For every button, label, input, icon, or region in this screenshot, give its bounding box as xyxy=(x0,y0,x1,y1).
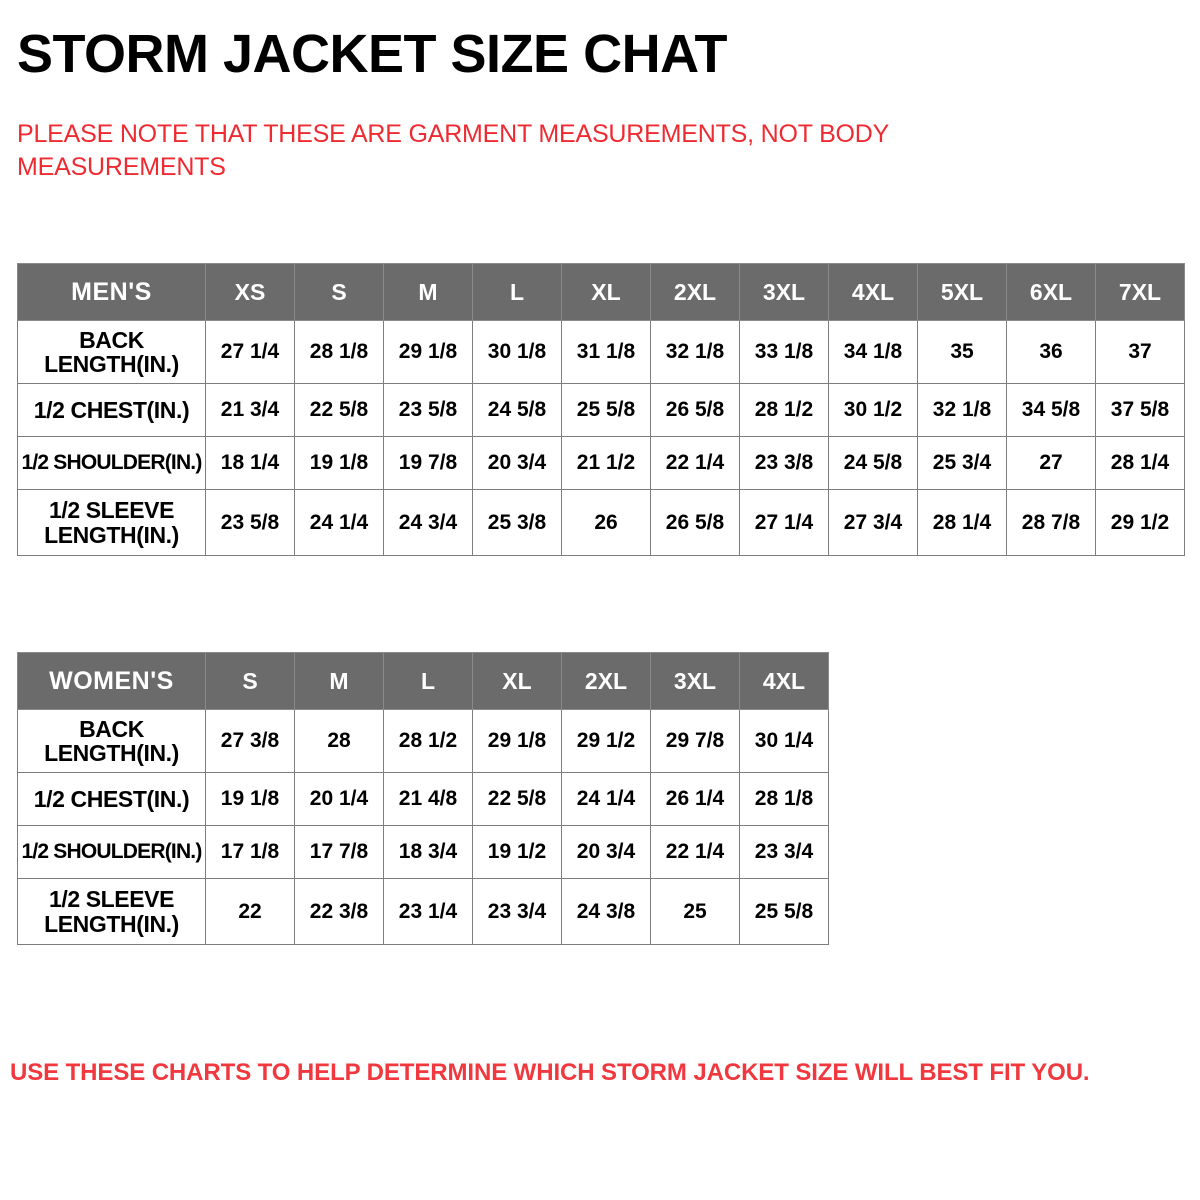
mens-shoulder-7xl: 28 1/4 xyxy=(1096,437,1185,490)
mens-chest-5xl: 32 1/8 xyxy=(918,384,1007,437)
table-row: 1/2 SHOULDER(IN.) 17 1/8 17 7/8 18 3/4 1… xyxy=(18,826,829,879)
mens-sleeve-xs: 23 5/8 xyxy=(206,490,295,556)
womens-corner-header: WOMEN'S xyxy=(18,653,206,710)
mens-corner-header: MEN'S xyxy=(18,264,206,321)
mens-sleeve-2xl: 26 5/8 xyxy=(651,490,740,556)
mens-chest-m: 23 5/8 xyxy=(384,384,473,437)
mens-col-header-xs: XS xyxy=(206,264,295,321)
mens-chest-s: 22 5/8 xyxy=(295,384,384,437)
womens-chest-s: 19 1/8 xyxy=(206,773,295,826)
womens-sleeve-l: 23 1/4 xyxy=(384,879,473,945)
mens-col-header-xl: XL xyxy=(562,264,651,321)
womens-back-length-l: 28 1/2 xyxy=(384,710,473,773)
mens-col-header-s: S xyxy=(295,264,384,321)
womens-chest-m: 20 1/4 xyxy=(295,773,384,826)
womens-shoulder-4xl: 23 3/4 xyxy=(740,826,829,879)
womens-shoulder-l: 18 3/4 xyxy=(384,826,473,879)
mens-shoulder-3xl: 23 3/8 xyxy=(740,437,829,490)
womens-sleeve-s: 22 xyxy=(206,879,295,945)
mens-col-header-4xl: 4XL xyxy=(829,264,918,321)
mens-sleeve-m: 24 3/4 xyxy=(384,490,473,556)
mens-back-length-s: 28 1/8 xyxy=(295,321,384,384)
womens-chest-l: 21 4/8 xyxy=(384,773,473,826)
womens-shoulder-2xl: 20 3/4 xyxy=(562,826,651,879)
mens-table-body: BACK LENGTH(IN.) 27 1/4 28 1/8 29 1/8 30… xyxy=(18,321,1185,556)
mens-back-length-7xl: 37 xyxy=(1096,321,1185,384)
mens-shoulder-xs: 18 1/4 xyxy=(206,437,295,490)
womens-row-label-chest: 1/2 CHEST(IN.) xyxy=(18,773,206,826)
womens-sleeve-2xl: 24 3/8 xyxy=(562,879,651,945)
womens-row-label-back-length: BACK LENGTH(IN.) xyxy=(18,710,206,773)
size-selection-note: USE THESE CHARTS TO HELP DETERMINE WHICH… xyxy=(10,1059,1180,1088)
mens-back-length-l: 30 1/8 xyxy=(473,321,562,384)
womens-back-length-s: 27 3/8 xyxy=(206,710,295,773)
page-title: STORM JACKET SIZE CHAT xyxy=(17,26,727,83)
womens-back-length-2xl: 29 1/2 xyxy=(562,710,651,773)
womens-chest-3xl: 26 1/4 xyxy=(651,773,740,826)
womens-col-header-4xl: 4XL xyxy=(740,653,829,710)
womens-col-header-2xl: 2XL xyxy=(562,653,651,710)
womens-col-header-m: M xyxy=(295,653,384,710)
womens-col-header-s: S xyxy=(206,653,295,710)
womens-back-length-4xl: 30 1/4 xyxy=(740,710,829,773)
womens-chest-2xl: 24 1/4 xyxy=(562,773,651,826)
table-row: 1/2 CHEST(IN.) 21 3/4 22 5/8 23 5/8 24 5… xyxy=(18,384,1185,437)
mens-sleeve-5xl: 28 1/4 xyxy=(918,490,1007,556)
mens-col-header-5xl: 5XL xyxy=(918,264,1007,321)
table-row: 1/2 SLEEVE LENGTH(IN.) 22 22 3/8 23 1/4 … xyxy=(18,879,829,945)
womens-sleeve-xl: 23 3/4 xyxy=(473,879,562,945)
womens-shoulder-3xl: 22 1/4 xyxy=(651,826,740,879)
womens-col-header-xl: XL xyxy=(473,653,562,710)
mens-shoulder-6xl: 27 xyxy=(1007,437,1096,490)
table-row: BACK LENGTH(IN.) 27 3/8 28 28 1/2 29 1/8… xyxy=(18,710,829,773)
mens-table-head: MEN'S XS S M L XL 2XL 3XL 4XL 5XL 6XL 7X… xyxy=(18,264,1185,321)
table-row: 1/2 SHOULDER(IN.) 18 1/4 19 1/8 19 7/8 2… xyxy=(18,437,1185,490)
womens-shoulder-xl: 19 1/2 xyxy=(473,826,562,879)
womens-chest-xl: 22 5/8 xyxy=(473,773,562,826)
mens-sleeve-7xl: 29 1/2 xyxy=(1096,490,1185,556)
mens-back-length-xs: 27 1/4 xyxy=(206,321,295,384)
womens-sleeve-4xl: 25 5/8 xyxy=(740,879,829,945)
womens-col-header-3xl: 3XL xyxy=(651,653,740,710)
mens-col-header-2xl: 2XL xyxy=(651,264,740,321)
mens-sleeve-6xl: 28 7/8 xyxy=(1007,490,1096,556)
mens-back-length-6xl: 36 xyxy=(1007,321,1096,384)
mens-shoulder-5xl: 25 3/4 xyxy=(918,437,1007,490)
mens-header-row: MEN'S XS S M L XL 2XL 3XL 4XL 5XL 6XL 7X… xyxy=(18,264,1185,321)
mens-sleeve-s: 24 1/4 xyxy=(295,490,384,556)
mens-shoulder-l: 20 3/4 xyxy=(473,437,562,490)
womens-table-body: BACK LENGTH(IN.) 27 3/8 28 28 1/2 29 1/8… xyxy=(18,710,829,945)
mens-shoulder-2xl: 22 1/4 xyxy=(651,437,740,490)
mens-chest-6xl: 34 5/8 xyxy=(1007,384,1096,437)
mens-col-header-l: L xyxy=(473,264,562,321)
mens-shoulder-4xl: 24 5/8 xyxy=(829,437,918,490)
womens-col-header-l: L xyxy=(384,653,473,710)
mens-size-table: MEN'S XS S M L XL 2XL 3XL 4XL 5XL 6XL 7X… xyxy=(17,263,1185,556)
womens-back-length-xl: 29 1/8 xyxy=(473,710,562,773)
mens-sleeve-l: 25 3/8 xyxy=(473,490,562,556)
mens-row-label-sleeve-length: 1/2 SLEEVE LENGTH(IN.) xyxy=(18,490,206,556)
mens-back-length-xl: 31 1/8 xyxy=(562,321,651,384)
mens-sleeve-xl: 26 xyxy=(562,490,651,556)
mens-back-length-3xl: 33 1/8 xyxy=(740,321,829,384)
mens-chest-xs: 21 3/4 xyxy=(206,384,295,437)
mens-chest-7xl: 37 5/8 xyxy=(1096,384,1185,437)
table-row: 1/2 SLEEVE LENGTH(IN.) 23 5/8 24 1/4 24 … xyxy=(18,490,1185,556)
womens-header-row: WOMEN'S S M L XL 2XL 3XL 4XL xyxy=(18,653,829,710)
mens-shoulder-xl: 21 1/2 xyxy=(562,437,651,490)
table-row: 1/2 CHEST(IN.) 19 1/8 20 1/4 21 4/8 22 5… xyxy=(18,773,829,826)
mens-back-length-5xl: 35 xyxy=(918,321,1007,384)
mens-chest-3xl: 28 1/2 xyxy=(740,384,829,437)
womens-sleeve-3xl: 25 xyxy=(651,879,740,945)
mens-shoulder-s: 19 1/8 xyxy=(295,437,384,490)
womens-sleeve-m: 22 3/8 xyxy=(295,879,384,945)
mens-shoulder-m: 19 7/8 xyxy=(384,437,473,490)
mens-back-length-m: 29 1/8 xyxy=(384,321,473,384)
womens-table-head: WOMEN'S S M L XL 2XL 3XL 4XL xyxy=(18,653,829,710)
womens-back-length-3xl: 29 7/8 xyxy=(651,710,740,773)
mens-sleeve-4xl: 27 3/4 xyxy=(829,490,918,556)
womens-shoulder-m: 17 7/8 xyxy=(295,826,384,879)
mens-chest-4xl: 30 1/2 xyxy=(829,384,918,437)
mens-row-label-shoulder: 1/2 SHOULDER(IN.) xyxy=(18,437,206,490)
mens-back-length-4xl: 34 1/8 xyxy=(829,321,918,384)
mens-chest-l: 24 5/8 xyxy=(473,384,562,437)
mens-col-header-3xl: 3XL xyxy=(740,264,829,321)
womens-chest-4xl: 28 1/8 xyxy=(740,773,829,826)
womens-size-table: WOMEN'S S M L XL 2XL 3XL 4XL BACK LENGTH… xyxy=(17,652,829,945)
womens-row-label-sleeve-length: 1/2 SLEEVE LENGTH(IN.) xyxy=(18,879,206,945)
mens-col-header-6xl: 6XL xyxy=(1007,264,1096,321)
mens-row-label-back-length: BACK LENGTH(IN.) xyxy=(18,321,206,384)
womens-shoulder-s: 17 1/8 xyxy=(206,826,295,879)
mens-row-label-chest: 1/2 CHEST(IN.) xyxy=(18,384,206,437)
mens-chest-xl: 25 5/8 xyxy=(562,384,651,437)
womens-row-label-shoulder: 1/2 SHOULDER(IN.) xyxy=(18,826,206,879)
table-row: BACK LENGTH(IN.) 27 1/4 28 1/8 29 1/8 30… xyxy=(18,321,1185,384)
mens-col-header-m: M xyxy=(384,264,473,321)
mens-col-header-7xl: 7XL xyxy=(1096,264,1185,321)
mens-back-length-2xl: 32 1/8 xyxy=(651,321,740,384)
mens-chest-2xl: 26 5/8 xyxy=(651,384,740,437)
garment-measurement-note: PLEASE NOTE THAT THESE ARE GARMENT MEASU… xyxy=(17,118,977,183)
mens-sleeve-3xl: 27 1/4 xyxy=(740,490,829,556)
womens-back-length-m: 28 xyxy=(295,710,384,773)
